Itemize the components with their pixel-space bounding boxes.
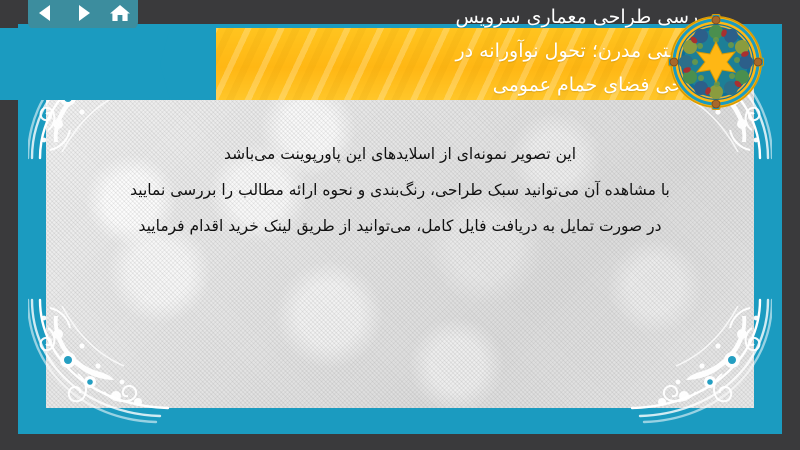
home-button[interactable] <box>107 0 133 26</box>
next-slide-button[interactable] <box>70 0 96 26</box>
title-band-arrow <box>160 28 216 100</box>
body-line-3: در صورت تمایل به دریافت فایل کامل، می‌تو… <box>58 208 742 244</box>
previous-slide-button[interactable] <box>33 0 59 26</box>
body-line-1: این تصویر نمونه‌ای از اسلایدهای این پاور… <box>58 136 742 172</box>
home-icon <box>109 3 131 23</box>
triangle-right-icon <box>73 3 93 23</box>
title-band-tail <box>0 28 170 100</box>
triangle-left-icon <box>36 3 56 23</box>
slide-viewer: این تصویر نمونه‌ای از اسلایدهای این پاور… <box>0 0 800 450</box>
slide-body-text: این تصویر نمونه‌ای از اسلایدهای این پاور… <box>18 136 782 244</box>
title-band <box>212 28 732 100</box>
persian-medallion-ornament <box>668 14 764 110</box>
slide-navigation-bar <box>28 0 138 30</box>
body-line-2: با مشاهده آن می‌توانید سبک طراحی، رنگ‌بن… <box>58 172 742 208</box>
